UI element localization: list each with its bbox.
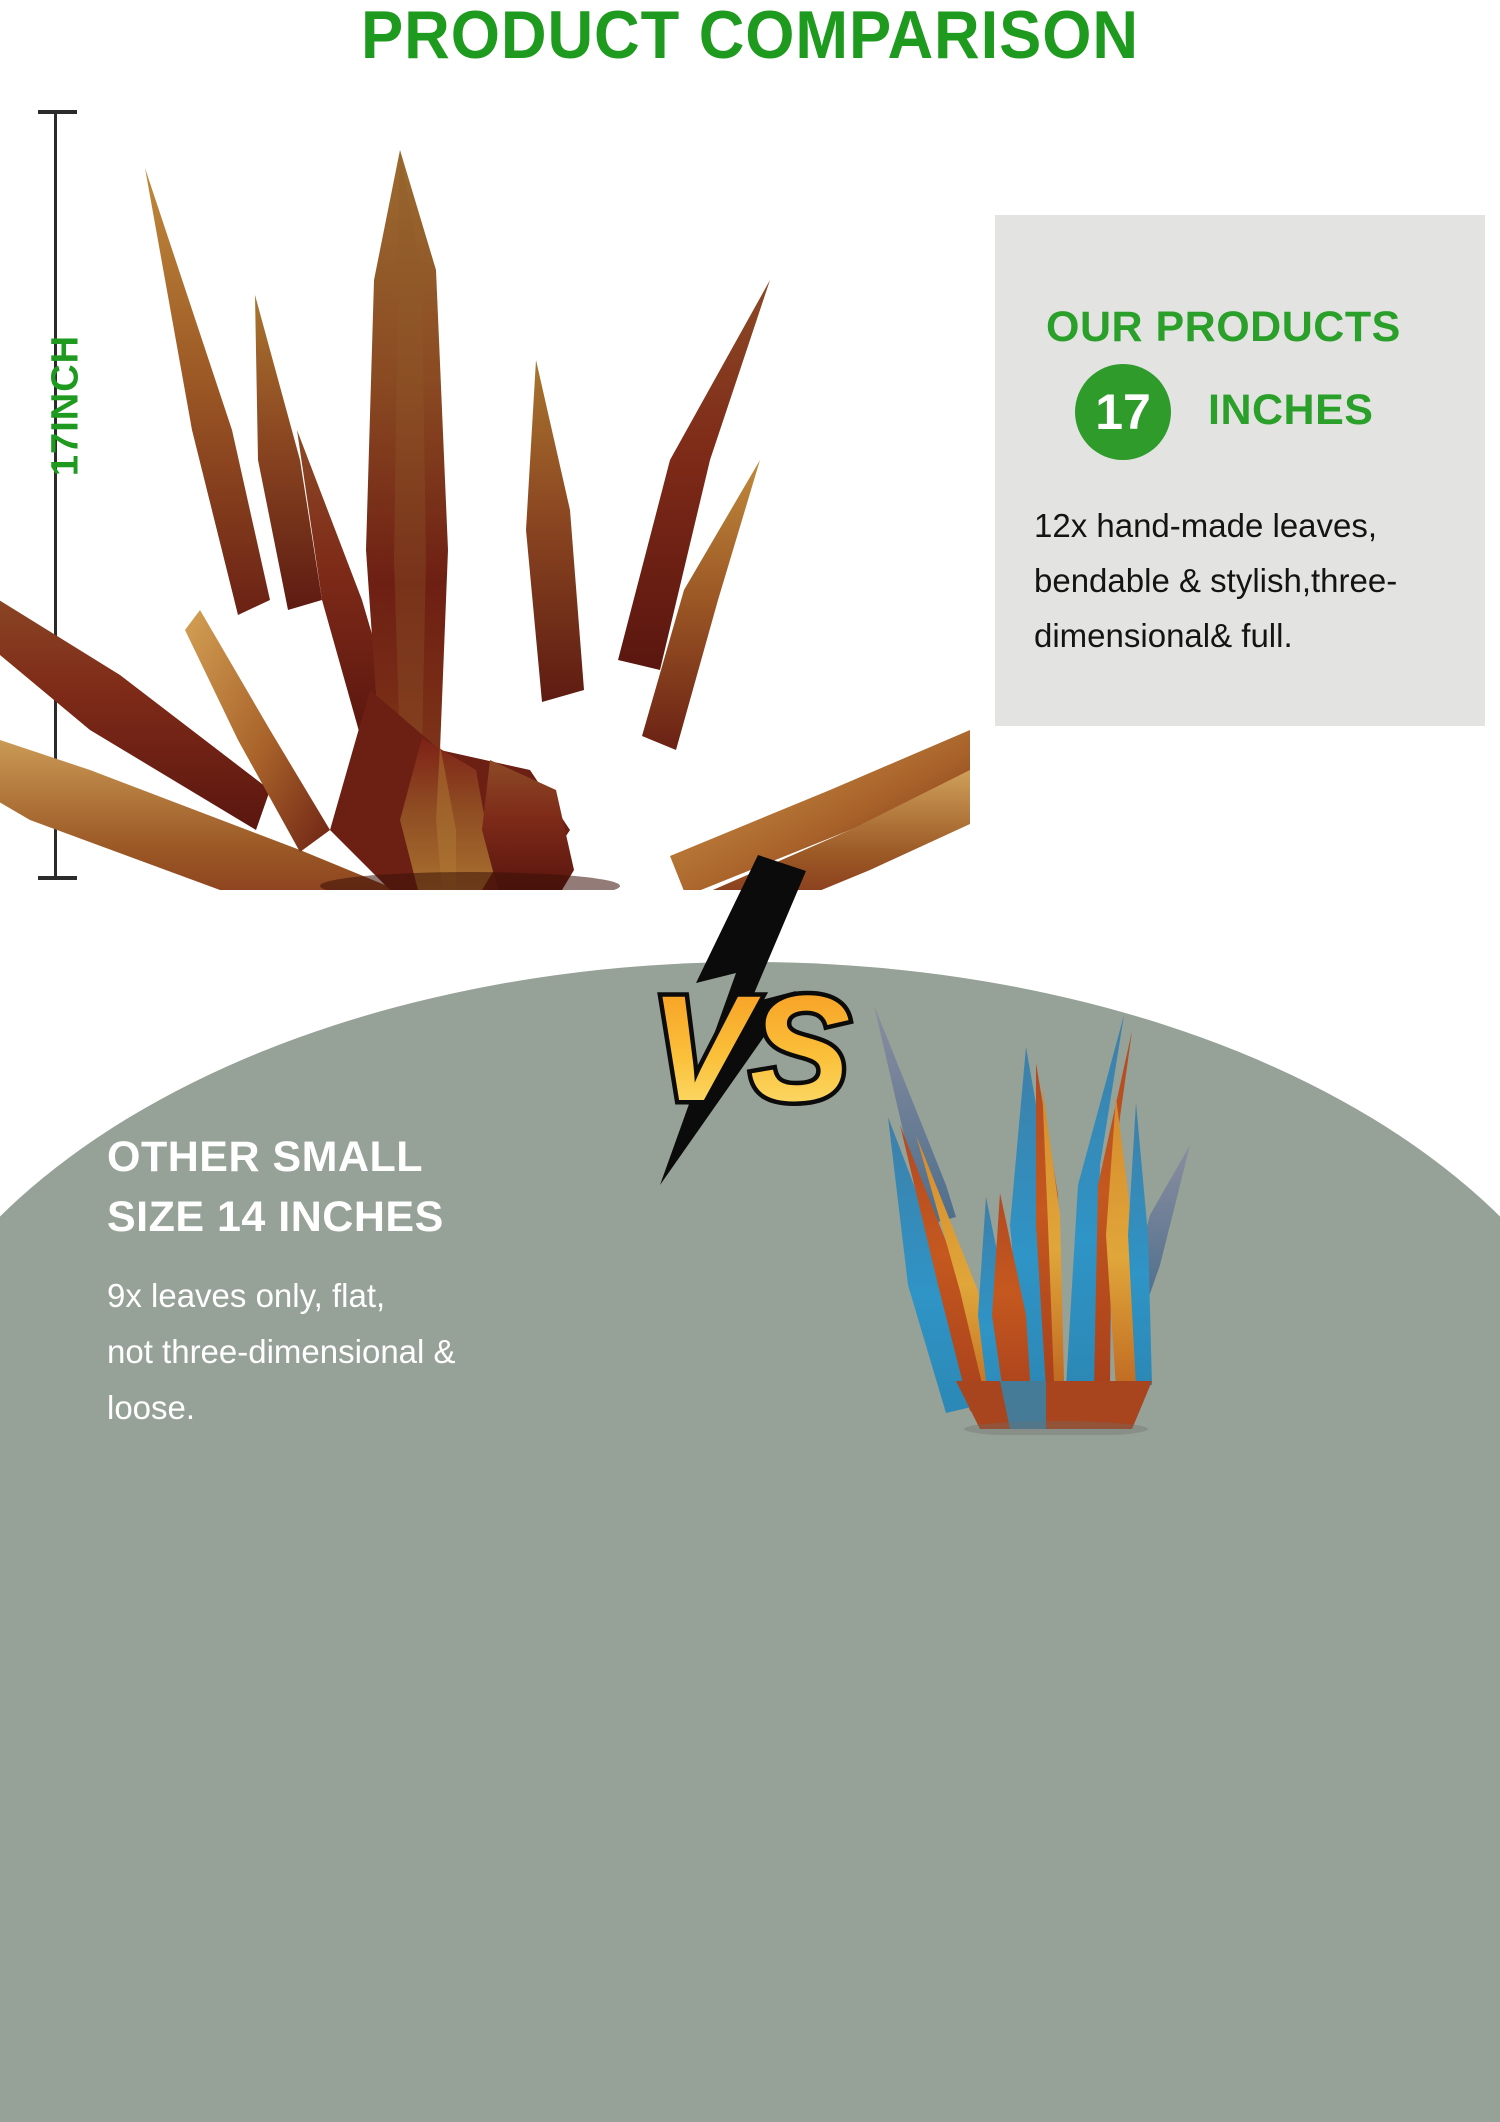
our-products-heading: OUR PRODUCTS	[1046, 303, 1466, 352]
versus-label: VS	[650, 964, 850, 1132]
size-badge-17: 17	[1075, 364, 1171, 460]
competitor-agave-image	[860, 985, 1250, 1435]
ruler-cap-top	[38, 110, 77, 114]
page-title: PRODUCT COMPARISON	[53, 0, 1448, 74]
competitor-heading-line1: OTHER SMALL	[107, 1127, 727, 1187]
competitor-desc-line2: not three-dimensional &	[107, 1324, 747, 1380]
competitor-heading: OTHER SMALL SIZE 14 INCHES	[107, 1127, 727, 1247]
our-products-description: 12x hand-made leaves, bendable & stylish…	[1034, 498, 1486, 663]
competitor-desc-line1: 9x leaves only, flat,	[107, 1268, 747, 1324]
inches-label: INCHES	[1208, 386, 1373, 435]
product-agave-image	[0, 130, 970, 890]
competitor-heading-line2: SIZE 14 INCHES	[107, 1187, 727, 1247]
competitor-description: 9x leaves only, flat, not three-dimensio…	[107, 1268, 747, 1436]
competitor-desc-line3: loose.	[107, 1380, 747, 1436]
